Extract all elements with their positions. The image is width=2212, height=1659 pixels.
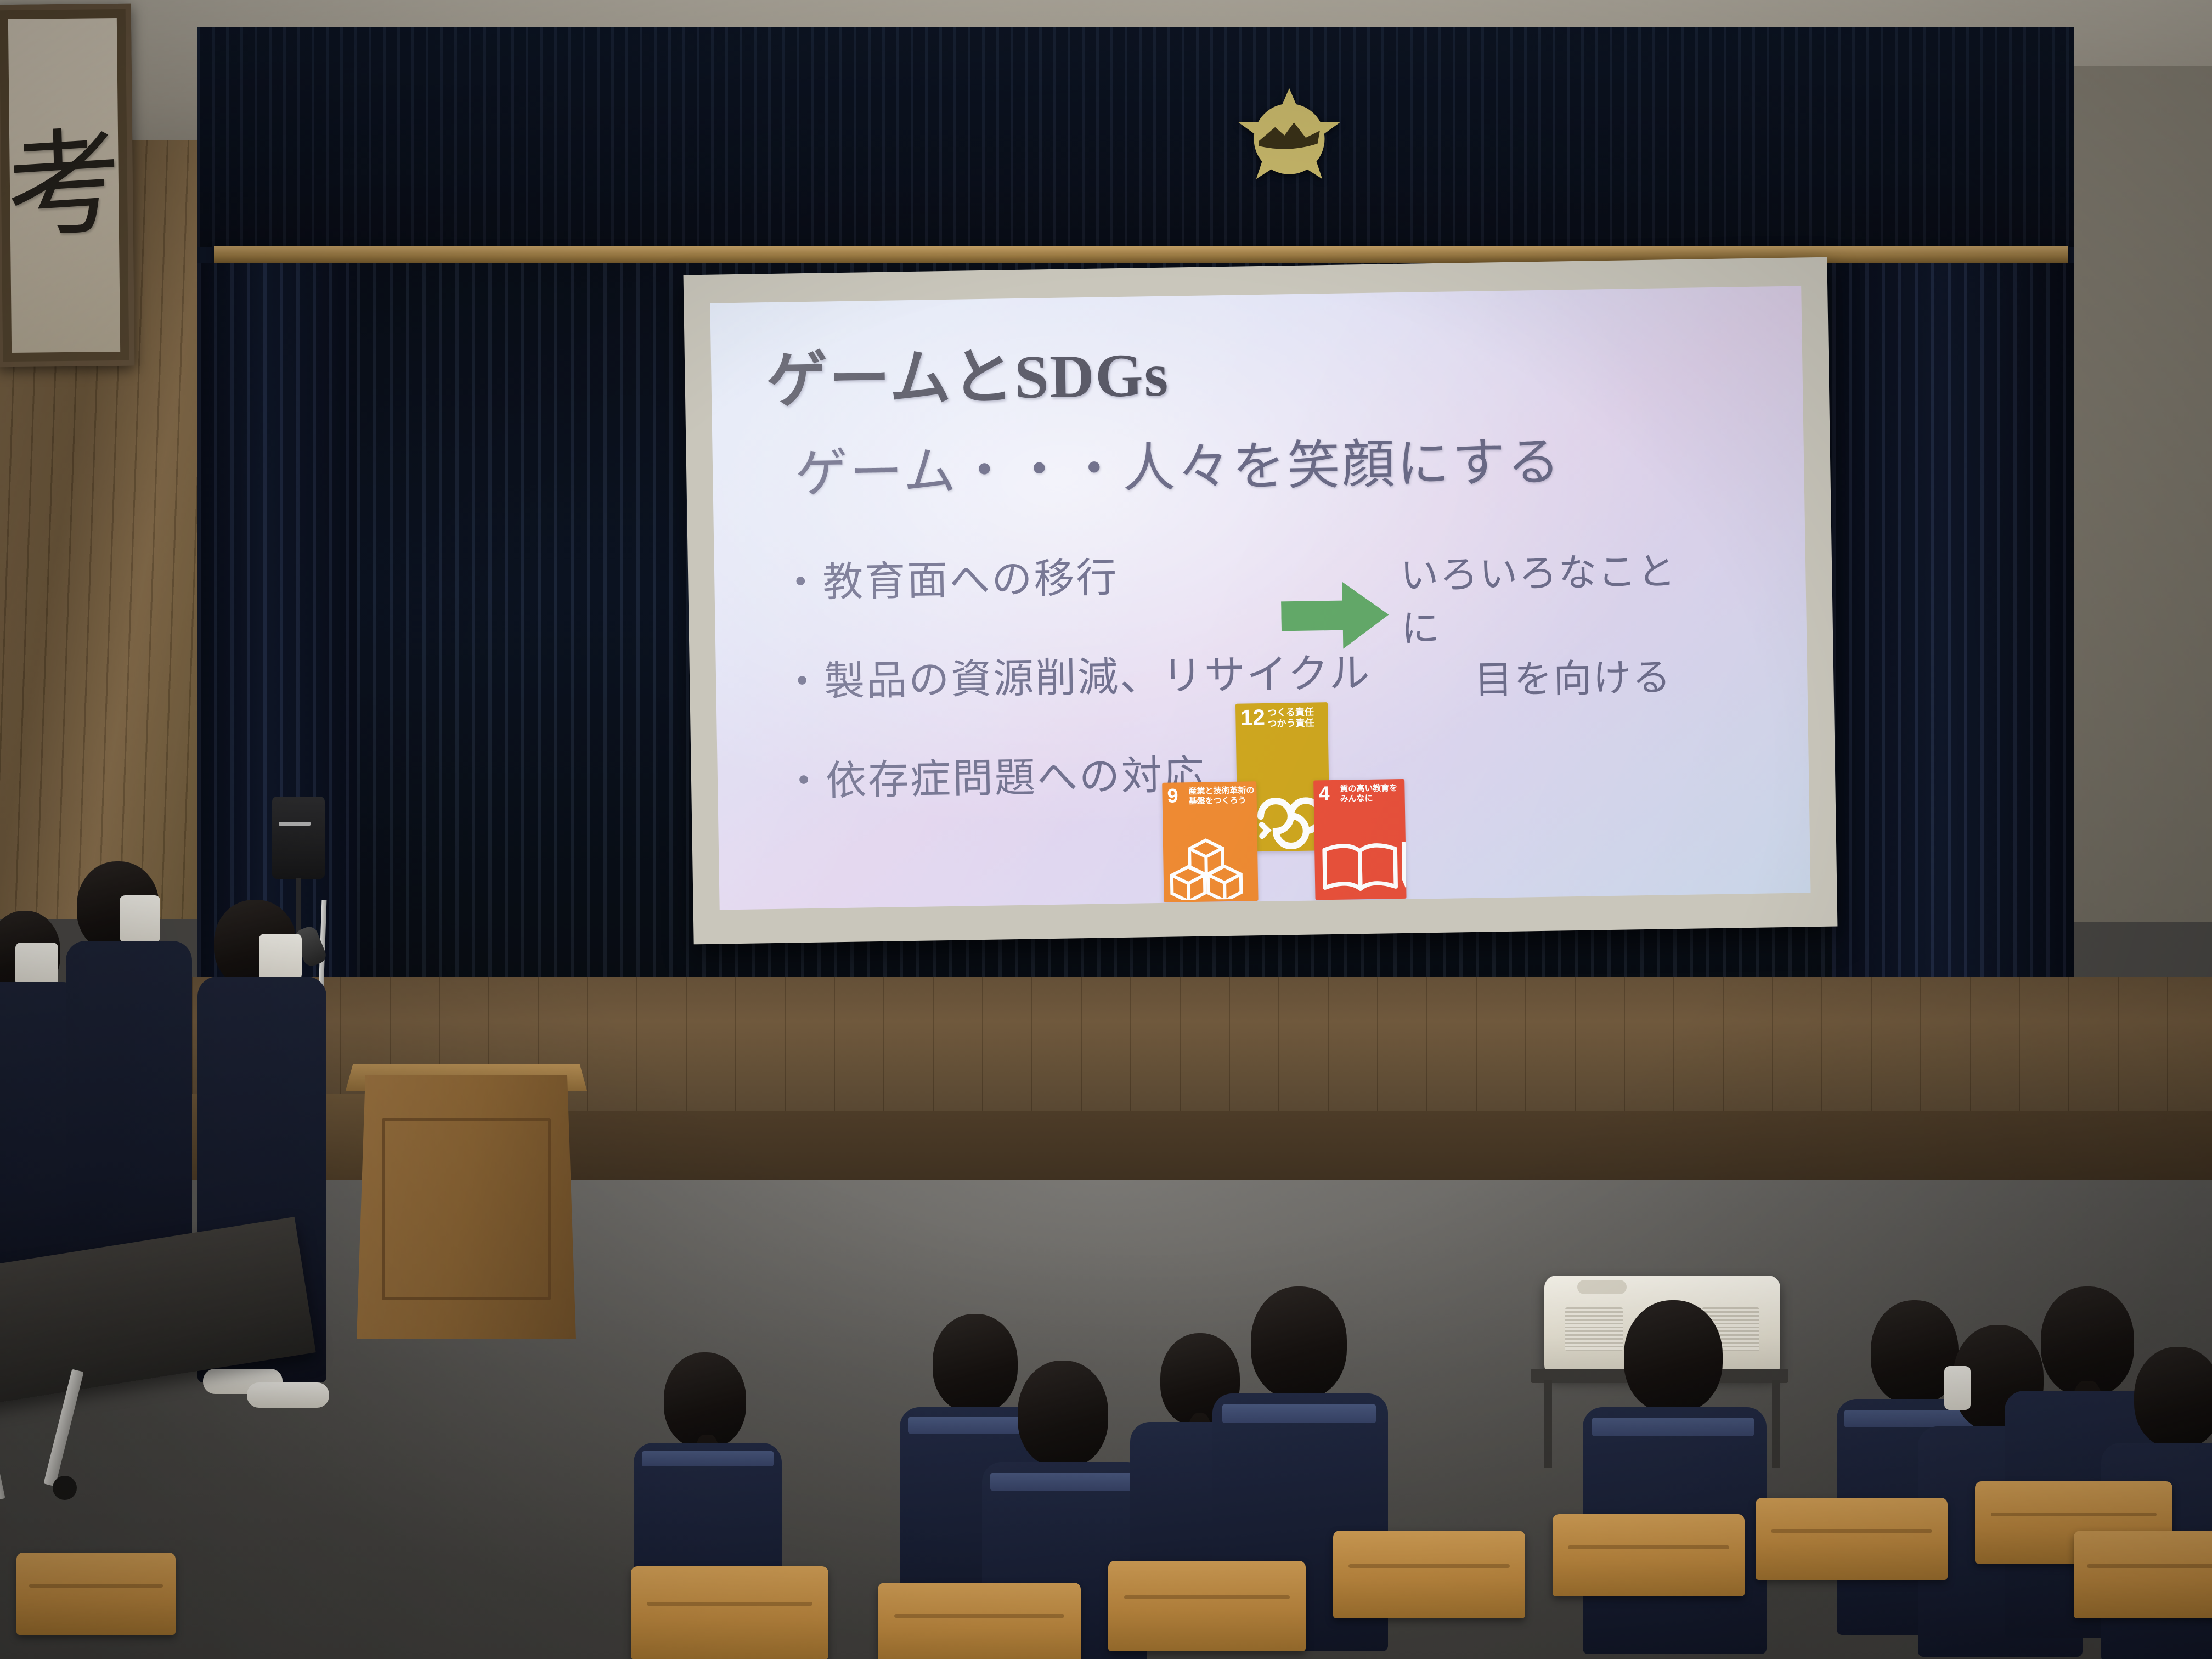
auditorium-seat[interactable] <box>1333 1531 1525 1618</box>
slide-bullet-list: ・教育面への移行 ・製品の資源削減、リサイクル ・依存症問題への対応 <box>780 540 1398 848</box>
auditorium-seat[interactable] <box>1108 1561 1306 1651</box>
stage-pa-speaker <box>272 797 325 879</box>
head <box>1018 1361 1108 1468</box>
sdg-badge-9: 9 産業と技術革新の 基盤をつくろう <box>1162 781 1258 902</box>
face-mask <box>1944 1366 1971 1410</box>
uniform-collar <box>1592 1418 1754 1436</box>
auditorium-seat[interactable] <box>878 1583 1081 1659</box>
projection-screen: ゲームとSDGs ゲーム・・・人々を笑顔にする ・教育面への移行 ・製品の資源削… <box>684 257 1838 945</box>
uniform-collar <box>1222 1404 1376 1423</box>
auditorium-seat[interactable] <box>1756 1498 1948 1580</box>
bullet-item: ・依存症問題への対応 <box>783 739 1398 808</box>
head <box>1624 1300 1723 1413</box>
wooden-lectern <box>357 1075 576 1339</box>
bullet-item: ・製品の資源削減、リサイクル <box>781 640 1397 708</box>
projector-cart-leg <box>1772 1380 1780 1468</box>
projector-lens <box>1577 1280 1627 1294</box>
sakura-crest-icon <box>1229 82 1350 200</box>
conclusion-line-1: いろいろなことに <box>1400 546 1687 656</box>
calligraphy-character: 考 <box>5 124 123 246</box>
sdg-label: 質の高い教育を みんなに <box>1340 783 1398 804</box>
slide-title: ゲームとSDGs <box>765 325 1170 420</box>
auditorium-seat[interactable] <box>631 1566 828 1659</box>
arrow-right-icon <box>1280 573 1391 657</box>
book-pencil-icon <box>1314 831 1407 898</box>
projector-cart-leg <box>1544 1380 1552 1468</box>
head <box>1251 1286 1347 1399</box>
bullet-item: ・教育面への移行 <box>780 540 1395 609</box>
right-wall <box>2069 66 2212 922</box>
sdg-badge-4: 4 質の高い教育を みんなに <box>1313 779 1406 900</box>
uniform-collar <box>642 1451 774 1466</box>
slide-conclusion: いろいろなことに 目を向ける <box>1400 546 1688 709</box>
conclusion-line-2: 目を向ける <box>1402 652 1688 709</box>
head <box>2134 1347 2212 1448</box>
projector-vent <box>1565 1307 1623 1351</box>
face-mask <box>15 943 58 986</box>
projected-slide: ゲームとSDGs ゲーム・・・人々を笑顔にする ・教育面への移行 ・製品の資源削… <box>710 286 1810 910</box>
table-caster <box>53 1476 77 1500</box>
face-mask <box>120 895 160 943</box>
sdg-badge-12: 12 つくる責任 つかう責任 <box>1235 702 1330 852</box>
sdg-label: つくる責任 つかう責任 <box>1267 707 1314 729</box>
uniform-collar <box>990 1473 1136 1491</box>
head <box>664 1352 746 1448</box>
auditorium-seat[interactable] <box>16 1553 176 1635</box>
head <box>933 1314 1018 1413</box>
curtain-valance <box>198 27 2074 247</box>
stage-curtain-right <box>1832 263 2074 993</box>
slide-subtitle: ゲーム・・・人々を笑顔にする <box>794 419 1562 507</box>
lectern-panel <box>382 1118 551 1300</box>
auditorium-seat[interactable] <box>2074 1531 2212 1618</box>
auditorium-presentation-photo: 考 ゲームとSDGs ゲーム・・・人々を笑顔にする ・教育面への移行 ・製品の資… <box>0 0 2212 1659</box>
indoor-shoe <box>247 1383 329 1408</box>
stage-curtain-left <box>198 263 362 993</box>
infinity-loop-icon <box>1237 782 1330 849</box>
sdg-label: 産業と技術革新の 基盤をつくろう <box>1188 786 1255 806</box>
calligraphy-scroll-frame: 考 <box>0 4 134 368</box>
cubes-icon <box>1163 833 1259 900</box>
head <box>2041 1286 2134 1396</box>
calligraphy-scroll-paper: 考 <box>8 18 120 353</box>
sdg-number: 9 <box>1167 786 1178 805</box>
sdg-icon-group: 12 つくる責任 つかう責任 9 産業と技術革新の 基盤をつくろう <box>1161 701 1422 902</box>
speaker-slit <box>279 822 311 826</box>
face-mask <box>259 934 302 980</box>
auditorium-seat[interactable] <box>1553 1514 1745 1596</box>
sdg-number: 12 <box>1240 707 1265 729</box>
sdg-number: 4 <box>1318 783 1330 803</box>
